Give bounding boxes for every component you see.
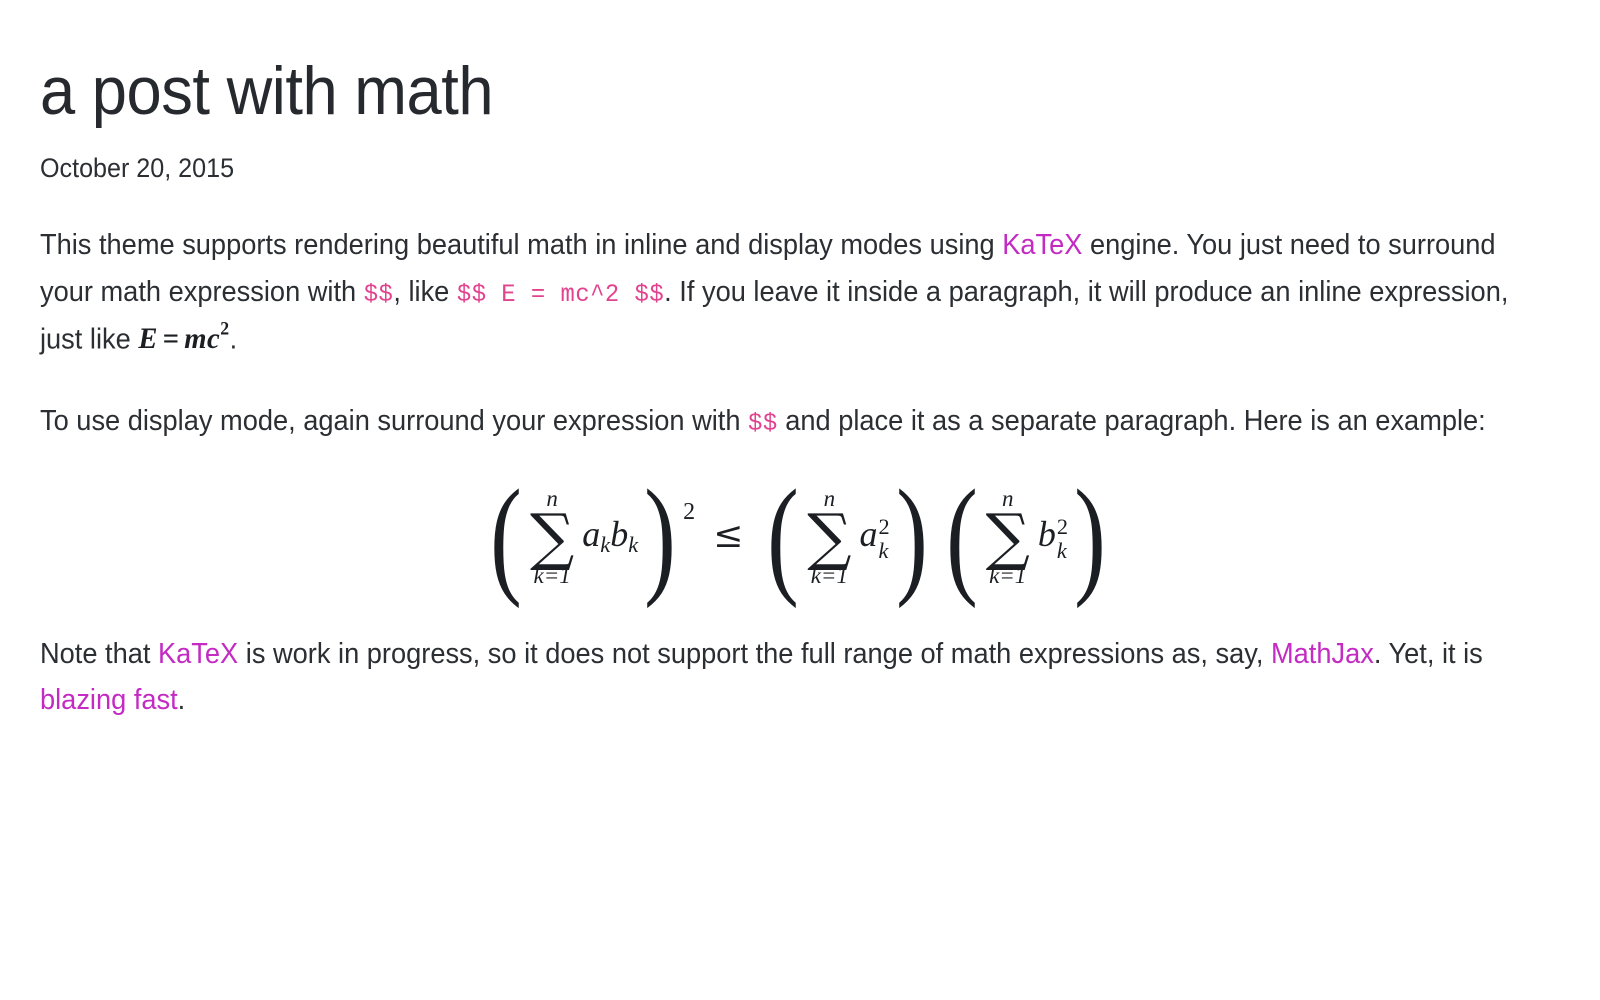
math-group-3: ( n ∑ k=1 b2k ) [940, 487, 1112, 587]
code-dollar-delimiters-1: $$ [364, 280, 394, 309]
paren-open-1: ( [490, 494, 522, 578]
paragraph-2: To use display mode, again surround your… [40, 398, 1556, 445]
paragraph-1: This theme supports rendering beautiful … [40, 222, 1556, 364]
sum-operand-2: a2k [859, 505, 889, 563]
p1-text-3: , like [393, 276, 457, 308]
operand-b-3-subscript: k [1057, 540, 1068, 562]
paren-close-3: ) [1074, 494, 1106, 578]
operand-b-3-scripts: 2k [1057, 516, 1068, 562]
p1-text-1: This theme supports rendering beautiful … [40, 229, 1002, 261]
display-math-cauchy-schwarz: ( n ∑ k=1 akbk ) 2 ≤ ( n ∑ [484, 487, 1112, 587]
operand-b: b [610, 514, 628, 554]
math-group-2: ( n ∑ k=1 a2k ) [761, 487, 933, 587]
link-katex-1[interactable]: KaTeX [1002, 229, 1082, 261]
operand-a: a [582, 514, 600, 554]
relation-less-than-or-equal: ≤ [695, 507, 761, 565]
paren-open-2: ( [767, 494, 799, 578]
p3-text-2: is work in progress, so it does not supp… [238, 638, 1271, 670]
outer-exponent-2: 2 [683, 493, 695, 532]
display-math-container: ( n ∑ k=1 akbk ) 2 ≤ ( n ∑ [40, 487, 1556, 587]
math-exponent-2: 2 [220, 319, 229, 340]
p3-text-3: . Yet, it is [1374, 638, 1483, 670]
code-emc2-snippet: $$ E = mc^2 $$ [457, 280, 664, 309]
p3-text-4: . [178, 684, 186, 716]
paren-open-3: ( [946, 494, 978, 578]
operand-b-3-superscript: 2 [1057, 516, 1068, 538]
operand-b-3: b [1038, 514, 1056, 554]
link-blazing-fast[interactable]: blazing fast [40, 684, 178, 716]
math-var-E: E [138, 322, 158, 355]
p2-text-2: and place it as a separate paragraph. He… [778, 405, 1486, 437]
sum-operand-3: b2k [1038, 505, 1068, 563]
p1-text-5: . [230, 323, 238, 355]
sum-lower-limit-2: k=1 [811, 564, 848, 587]
operand-a-2-scripts: 2k [878, 516, 889, 562]
post-page: a post with math October 20, 2015 This t… [0, 0, 1600, 723]
code-dollar-delimiters-2: $$ [748, 409, 778, 438]
link-katex-2[interactable]: KaTeX [158, 638, 238, 670]
math-group-1: ( n ∑ k=1 akbk ) 2 [484, 487, 695, 587]
summation-1: n ∑ k=1 [530, 487, 574, 587]
paragraph-3: Note that KaTeX is work in progress, so … [40, 631, 1556, 723]
sum-lower-limit-1: k=1 [534, 564, 571, 587]
inline-math-emc2: E=mc2 [138, 322, 229, 355]
operand-a-2: a [859, 514, 877, 554]
p2-text-1: To use display mode, again surround your… [40, 405, 748, 437]
summation-3: n ∑ k=1 [986, 487, 1030, 587]
post-body: This theme supports rendering beautiful … [40, 222, 1556, 722]
paren-close-2: ) [896, 494, 928, 578]
sum-operand-1: akbk [582, 505, 638, 563]
math-var-mc: mc [184, 322, 220, 355]
math-operator-equals: = [158, 322, 184, 355]
operand-a-2-superscript: 2 [878, 516, 889, 538]
operand-b-subscript: k [628, 533, 638, 558]
sigma-icon-2: ∑ [807, 508, 851, 565]
sigma-icon-1: ∑ [530, 508, 574, 565]
operand-a-subscript: k [600, 533, 610, 558]
page-title: a post with math [40, 56, 1450, 127]
operand-a-2-subscript: k [878, 540, 889, 562]
link-mathjax[interactable]: MathJax [1271, 638, 1374, 670]
paren-close-1: ) [644, 494, 676, 578]
p3-text-1: Note that [40, 638, 158, 670]
summation-2: n ∑ k=1 [807, 487, 851, 587]
post-date: October 20, 2015 [40, 153, 1450, 184]
sum-lower-limit-3: k=1 [989, 564, 1026, 587]
sigma-icon-3: ∑ [986, 508, 1030, 565]
